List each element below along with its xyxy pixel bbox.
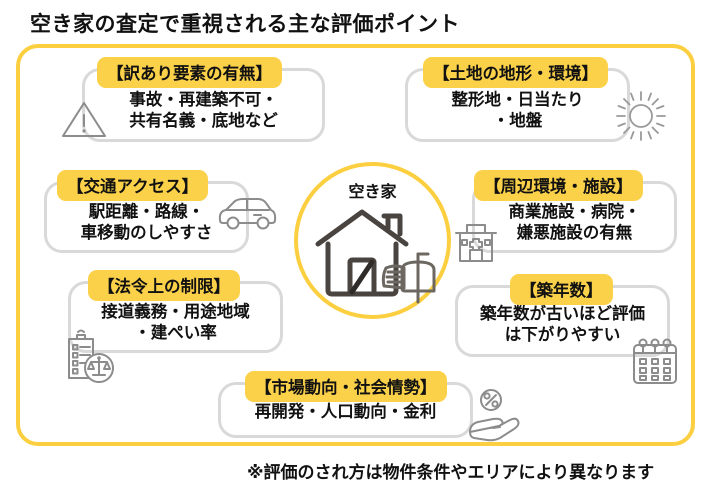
card-troubled-factors-body: 事故・再建築不可・ 共有名義・底地など [85, 89, 322, 131]
card-land-terrain-environment-badge: 【土地の地形・環境】 [423, 57, 608, 88]
page-title: 空き家の査定で重視される主な評価ポイント [30, 8, 460, 38]
hand-percent-icon [466, 386, 524, 444]
card-surrounding-facilities-badge: 【周辺環境・施設】 [474, 170, 643, 201]
card-building-age-badge: 【築年数】 [510, 274, 613, 305]
hospital-icon [452, 217, 500, 265]
calendar-icon [629, 334, 681, 388]
sun-icon [613, 88, 669, 144]
warning-triangle-icon [60, 98, 108, 140]
card-transport-access-badge: 【交通アクセス】 [57, 170, 208, 201]
card-market-trends-body: 再開発・人口動向・金利 [221, 401, 470, 422]
card-troubled-factors-badge: 【訳あり要素の有無】 [97, 57, 282, 88]
footnote: ※評価のされ方は物件条件やエリアにより異なります [247, 458, 654, 483]
card-surrounding-facilities-body: 商業施設・病院・ 嫌悪施設の有無 [475, 201, 674, 243]
center-circle: 空き家 [294, 162, 451, 319]
car-icon [216, 196, 278, 232]
vacant-house-with-overflowing-mailbox-icon [306, 198, 446, 310]
card-market-trends-badge: 【市場動向・社会情勢】 [245, 371, 447, 402]
card-legal-restrictions-badge: 【法令上の制限】 [88, 270, 240, 301]
infographic-stage: 空き家の査定で重視される主な評価ポイント 空き家 [0, 0, 720, 490]
clipboard-scales-icon [62, 328, 118, 384]
card-land-terrain-environment-body: 整形地・日当たり ・地盤 [408, 89, 627, 131]
